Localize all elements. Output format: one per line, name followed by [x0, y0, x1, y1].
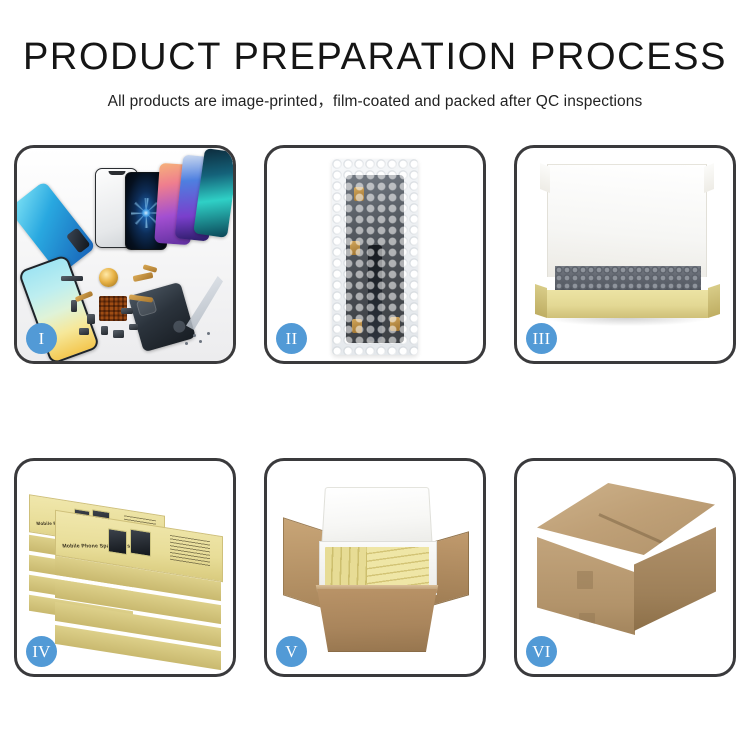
- connector-tab: [350, 241, 360, 255]
- page-header: PRODUCT PREPARATION PROCESS All products…: [0, 0, 750, 111]
- connector-tab: [390, 317, 400, 331]
- step-badge: VI: [526, 636, 557, 667]
- box-label-photo: [130, 529, 151, 557]
- page-subtitle: All products are image-printed，film-coat…: [0, 89, 750, 111]
- process-panel-grid: I II III: [14, 145, 736, 677]
- screw-part: [185, 342, 188, 345]
- chip-part: [87, 314, 95, 324]
- screw-part: [193, 334, 196, 337]
- box-label-photo: [108, 528, 127, 555]
- chip-part: [129, 324, 138, 330]
- connector-tab: [352, 319, 362, 333]
- carton-body: [309, 589, 445, 652]
- yellow-tray-base: [545, 290, 710, 318]
- bubble-wrap-pouch: [332, 159, 418, 355]
- speaker-coil-part: [99, 268, 118, 287]
- step-badge: IV: [26, 636, 57, 667]
- step-badge: III: [526, 323, 557, 354]
- chip-part: [79, 328, 89, 335]
- step-badge: V: [276, 636, 307, 667]
- panel-step-3[interactable]: III: [514, 145, 736, 364]
- panel-step-1[interactable]: I: [14, 145, 236, 364]
- white-lid-flap: [547, 164, 707, 277]
- step-badge: II: [276, 323, 307, 354]
- carton-front-face: [537, 537, 635, 635]
- box-stack: Mobile Phone Spare Parts Mobile Phone Sp…: [25, 479, 231, 665]
- wrapped-flex-cable: [368, 245, 382, 341]
- panel-step-4[interactable]: Mobile Phone Spare Parts Mobile Phone Sp…: [14, 458, 236, 677]
- panel-step-2[interactable]: II: [264, 145, 486, 364]
- connector-tab: [354, 187, 364, 201]
- panel-step-5[interactable]: V: [264, 458, 486, 677]
- chip-part: [61, 276, 83, 281]
- screw-part: [207, 332, 210, 335]
- tape-patch: [577, 571, 593, 589]
- chip-part: [101, 326, 108, 335]
- drop-shadow: [547, 318, 707, 326]
- grey-foam-padding: [555, 266, 701, 292]
- chip-part: [113, 330, 124, 338]
- inner-yellow-boxes-row2: [367, 547, 429, 587]
- panel-step-6[interactable]: VI: [514, 458, 736, 677]
- tape-patch: [579, 613, 595, 629]
- page-title: PRODUCT PREPARATION PROCESS: [0, 38, 750, 78]
- box-label-textlines: [170, 535, 210, 567]
- step-badge: I: [26, 323, 57, 354]
- chip-part: [121, 308, 133, 314]
- screw-part: [199, 340, 202, 343]
